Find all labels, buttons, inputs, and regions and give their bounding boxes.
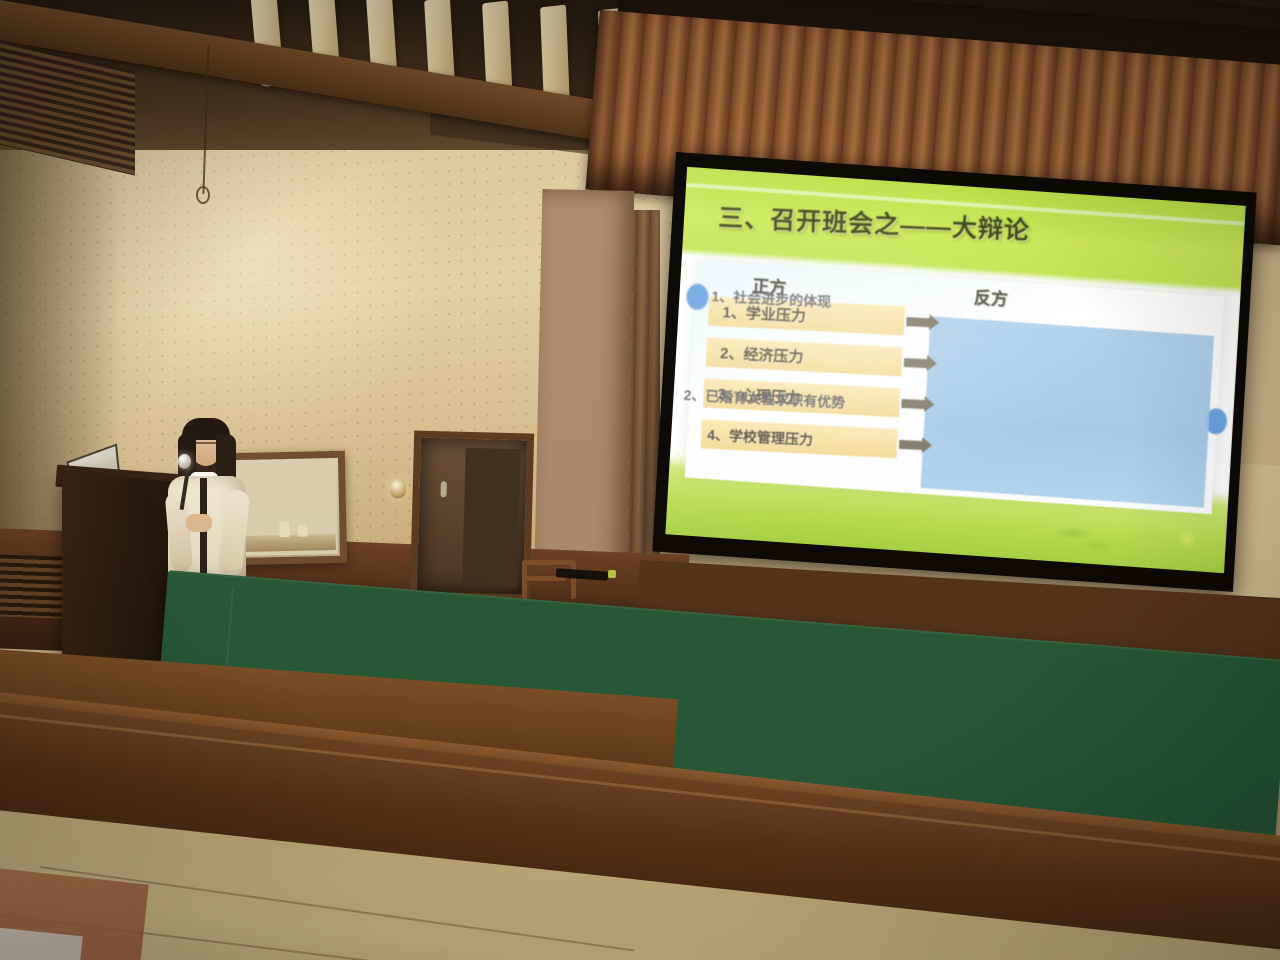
- arrow-right-icon: [904, 357, 928, 367]
- slide-foliage-decoration-icon: [1047, 517, 1219, 571]
- mirror-object: [297, 525, 307, 537]
- stage-curtain-side: [534, 189, 635, 611]
- microphone-icon: [178, 454, 191, 469]
- wall-sconce-light-icon: [390, 478, 406, 498]
- door-handle-icon[interactable]: [441, 481, 447, 497]
- mirror-object: [279, 521, 289, 537]
- column-header-con: 反方: [973, 283, 1008, 310]
- remote-indicator-icon: [608, 570, 617, 579]
- pro-argument-list: 1、学业压力 2、经济压力 3、心理压力 4、学校管理压力: [700, 295, 905, 472]
- list-item: 2、经济压力: [706, 337, 903, 376]
- projection-screen[interactable]: 三、召开班会之——大辩论 正方 反方 1、学业压力 2、经济压力 3、心理压力 …: [652, 152, 1256, 592]
- hanging-hook-icon: [196, 186, 210, 204]
- presenter-hands: [186, 514, 212, 532]
- arrow-right-icon: [899, 439, 923, 449]
- accent-circle-left-icon: [686, 283, 709, 310]
- slide-canvas: 三、召开班会之——大辩论 正方 反方 1、学业压力 2、经济压力 3、心理压力 …: [665, 167, 1245, 573]
- con-panel: [921, 316, 1215, 508]
- slide-content-area: 正方 反方 1、学业压力 2、经济压力 3、心理压力 4、学校管理压力 1、社会…: [685, 260, 1225, 514]
- arrow-right-icon: [906, 317, 930, 327]
- list-item: 4、学校管理压力: [701, 419, 898, 458]
- slide-title: 三、召开班会之——大辩论: [718, 198, 1211, 255]
- screen-frame: 三、召开班会之——大辩论 正方 反方 1、学业压力 2、经济压力 3、心理压力 …: [652, 152, 1256, 592]
- arrow-right-icon: [901, 398, 925, 408]
- door-panel: [462, 448, 521, 588]
- wall-light-pool: [120, 120, 460, 450]
- screen-surface: 三、召开班会之——大辩论 正方 反方 1、学业压力 2、经济压力 3、心理压力 …: [665, 167, 1245, 573]
- auditorium-scene: 三、召开班会之——大辩论 正方 反方 1、学业压力 2、经济压力 3、心理压力 …: [0, 0, 1280, 960]
